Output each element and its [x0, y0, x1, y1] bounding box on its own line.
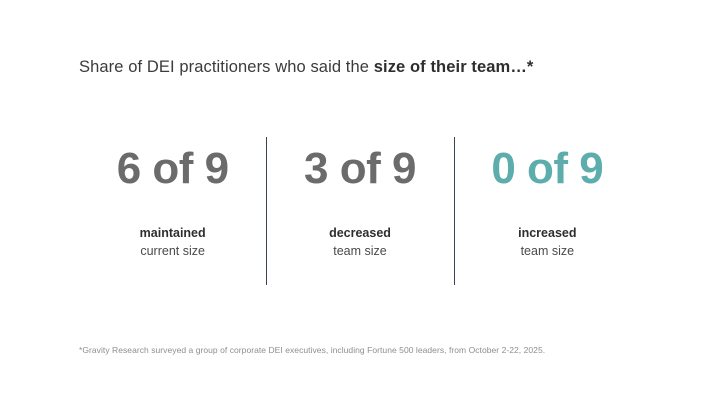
stat-label-bold-increased: increased: [518, 224, 576, 242]
stat-label-increased: increased team size: [518, 224, 576, 260]
stat-value-maintained: 6 of 9: [117, 141, 229, 197]
title-emphasis-text: size of their team…: [374, 58, 527, 76]
stat-value-decreased: 3 of 9: [304, 141, 416, 197]
stat-label-bold-maintained: maintained: [140, 224, 206, 242]
page-title: Share of DEI practitioners who said the …: [79, 56, 533, 78]
stat-card-decreased: 3 of 9 decreased team size: [266, 137, 453, 287]
stat-label-maintained: maintained current size: [140, 224, 206, 260]
stat-label-decreased: decreased team size: [329, 224, 391, 260]
stat-label-bold-decreased: decreased: [329, 224, 391, 242]
footnote-source-note: *Gravity Research surveyed a group of co…: [79, 344, 545, 356]
stat-label-sub-maintained: current size: [140, 242, 206, 260]
title-lead-text: Share of DEI practitioners who said the: [79, 58, 374, 76]
stat-card-maintained: 6 of 9 maintained current size: [79, 137, 266, 287]
stats-row: 6 of 9 maintained current size 3 of 9 de…: [79, 137, 641, 287]
title-footnote-marker: *: [527, 58, 534, 76]
stat-label-sub-increased: team size: [518, 242, 576, 260]
stat-label-sub-decreased: team size: [329, 242, 391, 260]
stat-card-increased: 0 of 9 increased team size: [454, 137, 641, 287]
slide-canvas: Share of DEI practitioners who said the …: [0, 0, 720, 405]
stat-value-increased: 0 of 9: [491, 141, 603, 197]
